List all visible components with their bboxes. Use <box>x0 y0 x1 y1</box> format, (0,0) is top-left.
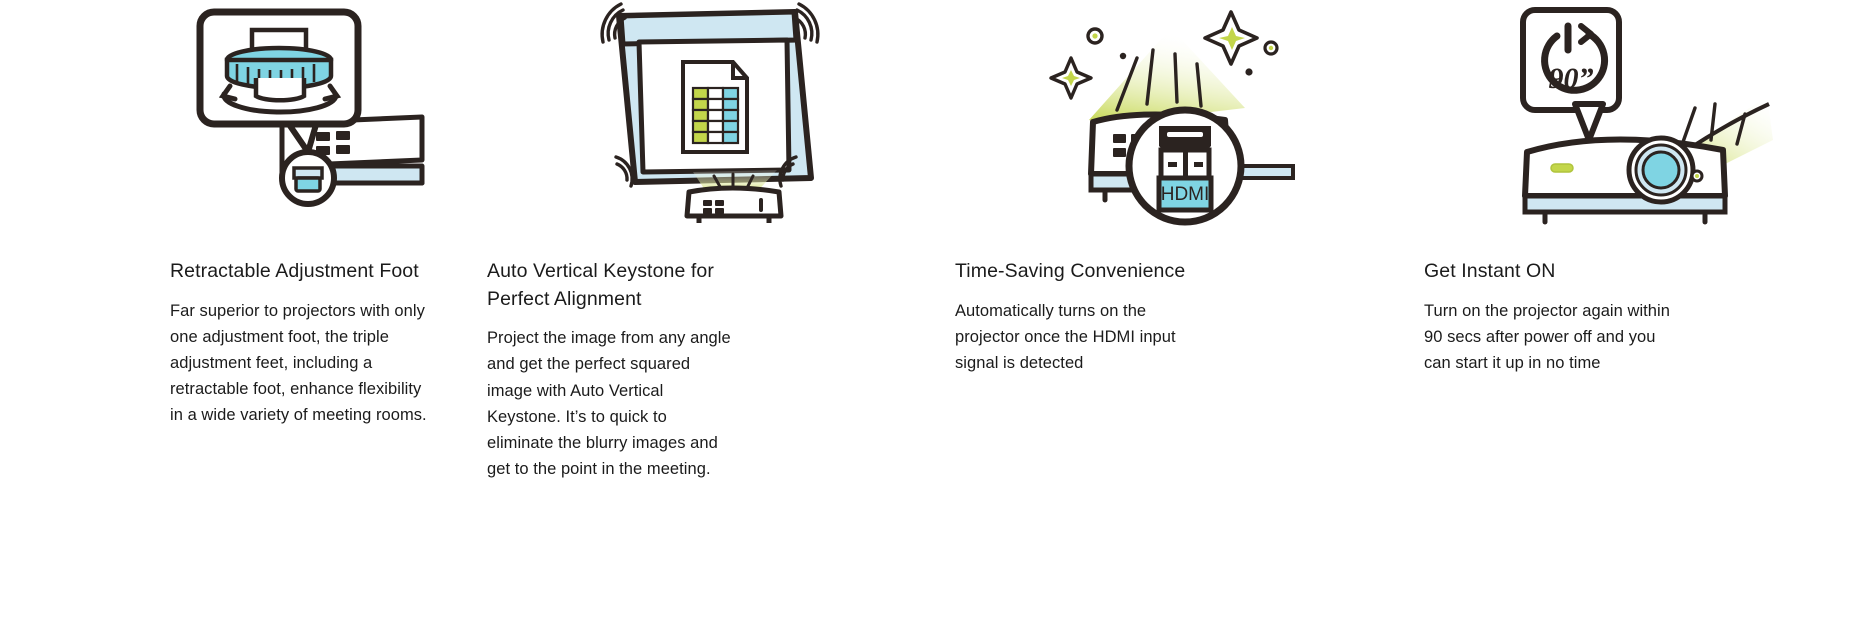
feature-copy: Retractable Adjustment Foot Far superior… <box>0 236 469 428</box>
feature-title: Time-Saving Convenience <box>955 258 1367 286</box>
feature-copy: Get Instant ON Turn on the projector aga… <box>1407 236 1876 376</box>
feature-body: Automatically turns on the projector onc… <box>955 298 1205 376</box>
feature-title: Auto Vertical Keystone for Perfect Align… <box>487 258 739 313</box>
projector-adjustment-foot-callout-icon <box>190 0 430 230</box>
hdmi-label: HDMI <box>1160 184 1209 205</box>
power-indicator <box>1551 164 1573 172</box>
feature-body: Project the image from any angle and get… <box>487 325 737 481</box>
instant-on-callout: 90” <box>1523 10 1619 140</box>
illustration-get-instant-on: 90” <box>1407 0 1876 236</box>
hdmi-connector-magnifier: HDMI <box>1129 110 1241 222</box>
feature-title: Get Instant ON <box>1424 258 1836 286</box>
feature-grid: Retractable Adjustment Foot Far superior… <box>0 0 1876 624</box>
feature-copy: Auto Vertical Keystone for Perfect Align… <box>469 236 938 482</box>
feature-column-get-instant-on: 90” <box>1407 0 1876 624</box>
document-with-chart <box>683 62 747 152</box>
projector-instant-on-90-icon: 90” <box>1511 0 1781 230</box>
illustration-time-saving-convenience: HDMI <box>938 0 1407 236</box>
feature-column-time-saving-convenience: HDMI Time-Saving Convenience Automatical… <box>938 0 1407 624</box>
feature-title: Retractable Adjustment Foot <box>170 258 451 286</box>
illustration-retractable-adjustment-foot <box>0 0 469 236</box>
projector-hdmi-auto-power-icon: HDMI <box>1049 0 1309 230</box>
feature-copy: Time-Saving Convenience Automatically tu… <box>938 236 1407 376</box>
illustration-auto-vertical-keystone <box>469 0 938 236</box>
feature-column-auto-vertical-keystone: Auto Vertical Keystone for Perfect Align… <box>469 0 938 624</box>
instant-on-label: 90” <box>1548 62 1593 95</box>
feature-body: Far superior to projectors with only one… <box>170 298 432 428</box>
lens <box>1629 138 1693 202</box>
projector-keystone-projection-icon <box>581 0 836 230</box>
feature-column-retractable-adjustment-foot: Retractable Adjustment Foot Far superior… <box>0 0 469 624</box>
feature-body: Turn on the projector again within 90 se… <box>1424 298 1674 376</box>
